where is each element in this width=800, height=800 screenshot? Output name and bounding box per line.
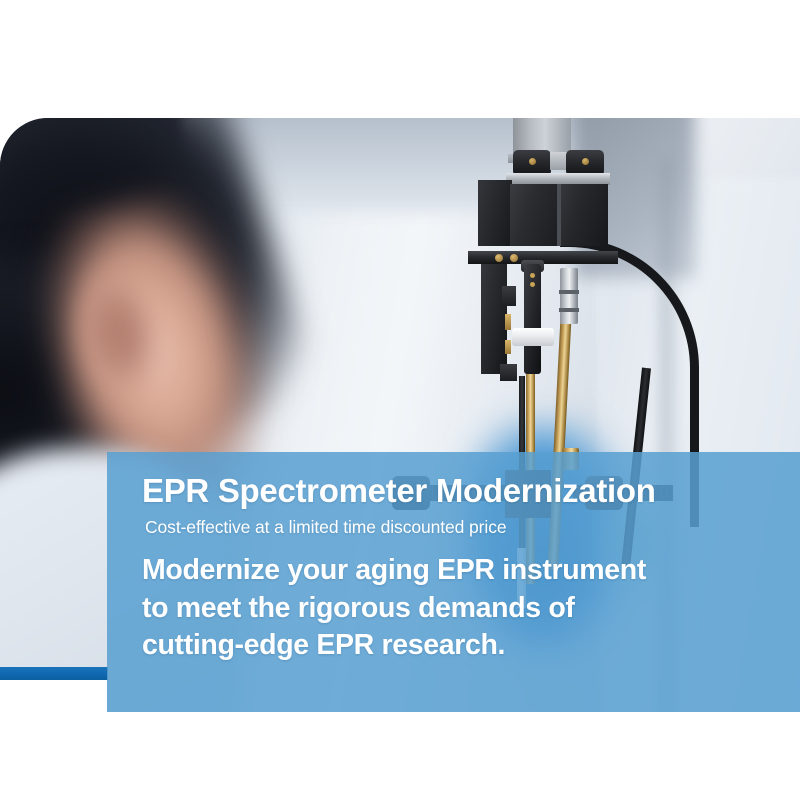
connector-lower (500, 364, 517, 381)
left-lower-margin (0, 680, 107, 712)
top-margin (0, 0, 800, 118)
connector-upper (502, 286, 516, 306)
bottom-margin (0, 712, 800, 800)
coupler-ring-upper (559, 290, 579, 294)
side-flange (478, 180, 512, 246)
magnet-box-right (560, 184, 608, 246)
brass-fitting-left (529, 158, 536, 165)
probe-contact-upper (530, 273, 535, 278)
coupler-ring-lower (559, 308, 579, 312)
magnet-box-left (510, 184, 558, 246)
magnet-box-seam (557, 184, 561, 246)
body-copy: Modernize your aging EPR instrument to m… (142, 552, 800, 665)
probe-contact-lower (530, 282, 535, 287)
body-line-2: to meet the rigorous demands of (142, 590, 800, 628)
brass-pin-upper (505, 314, 511, 330)
brass-pin-lower (505, 340, 511, 354)
subtitle: Cost-effective at a limited time discoun… (145, 518, 800, 537)
probe-body (524, 264, 541, 374)
vertical-bracket (481, 264, 507, 374)
ceramic-collar (512, 328, 554, 346)
mounting-bar-brass-right (510, 254, 518, 262)
overlay-content: EPR Spectrometer Modernization Cost-effe… (142, 474, 800, 665)
text-overlay-panel: EPR Spectrometer Modernization Cost-effe… (107, 452, 800, 712)
brass-fitting-right (582, 158, 589, 165)
body-line-1: Modernize your aging EPR instrument (142, 552, 800, 590)
page-title: EPR Spectrometer Modernization (142, 474, 800, 509)
accent-bar (0, 667, 108, 680)
promo-banner: EPR Spectrometer Modernization Cost-effe… (0, 0, 800, 800)
body-line-3: cutting-edge EPR research. (142, 627, 800, 665)
silver-coupler (560, 268, 578, 324)
mounting-bar-brass-left (495, 254, 503, 262)
